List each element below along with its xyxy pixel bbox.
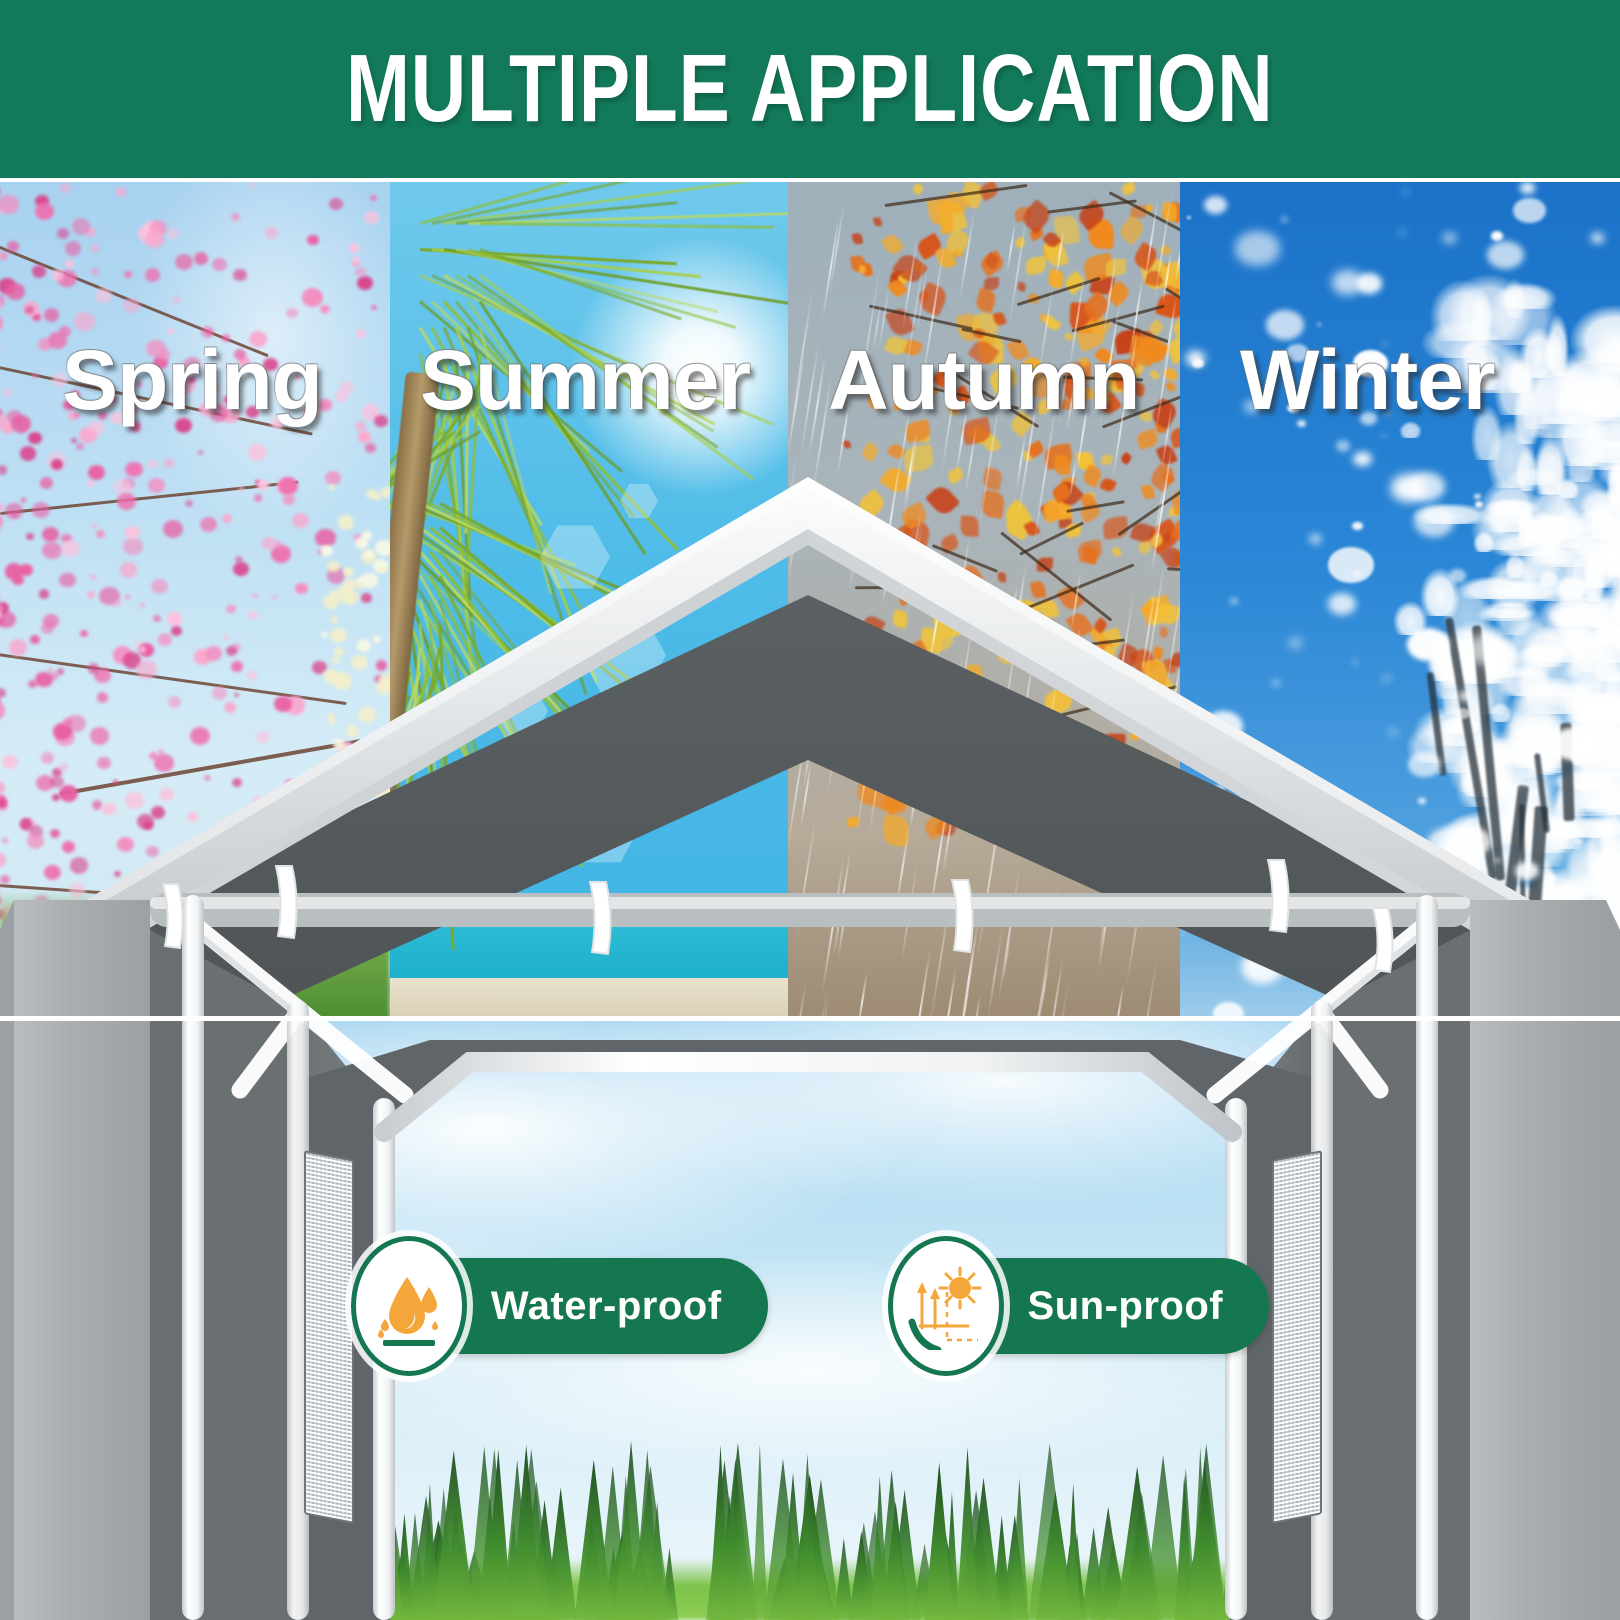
- rain-streak: [856, 971, 868, 1020]
- cherry-blossom: [146, 846, 158, 857]
- snowflake: [1310, 535, 1321, 543]
- snowflake: [1494, 858, 1501, 863]
- snowflake: [1592, 855, 1620, 885]
- cream-blossom: [375, 540, 390, 556]
- rain-streak: [829, 202, 845, 292]
- cherry-blossom: [287, 819, 303, 833]
- cherry-blossom: [65, 241, 81, 256]
- cream-blossom: [320, 545, 333, 557]
- cherry-blossom: [92, 800, 103, 810]
- cherry-blossom: [233, 562, 248, 576]
- cherry-blossom: [248, 444, 267, 461]
- cherry-blossom: [371, 305, 376, 310]
- cherry-blossom: [356, 792, 361, 797]
- cherry-blossom: [59, 573, 75, 588]
- snowflake: [1336, 440, 1350, 451]
- cream-blossom: [355, 835, 361, 841]
- cherry-blossom: [88, 663, 100, 673]
- cherry-blossom: [200, 517, 217, 533]
- rain-streak: [827, 717, 841, 794]
- rain-streak: [903, 428, 920, 523]
- cream-blossom: [332, 672, 352, 690]
- season-panel-winter: Winter: [1180, 182, 1620, 1020]
- snowflake: [1243, 951, 1283, 982]
- snowflake: [1382, 434, 1386, 437]
- rain-streak: [856, 714, 877, 834]
- cherry-blossom: [252, 593, 258, 599]
- snowflake: [1295, 846, 1301, 850]
- snowflake: [1200, 901, 1204, 904]
- snowflake: [1408, 472, 1445, 501]
- cherry-blossom: [164, 458, 174, 467]
- frosted-branch: [1456, 576, 1533, 599]
- cherry-blossom: [50, 672, 59, 680]
- page-title: MULTIPLE APPLICATION: [346, 34, 1274, 144]
- header-banner: MULTIPLE APPLICATION: [0, 0, 1620, 178]
- rain-streak: [1162, 251, 1172, 304]
- cherry-blossom: [285, 779, 294, 787]
- rain-streak: [1040, 750, 1060, 863]
- cherry-blossom: [244, 807, 259, 820]
- snowflake: [1539, 680, 1569, 704]
- cherry-blossom: [250, 183, 255, 188]
- cherry-blossom: [212, 686, 227, 700]
- snowflake: [1249, 859, 1257, 865]
- cherry-blossom: [257, 480, 269, 491]
- cream-blossom: [330, 628, 347, 643]
- snowflake: [1235, 231, 1279, 266]
- cherry-blossom: [370, 195, 377, 202]
- rain-streak: [821, 857, 845, 994]
- frosted-branch: [1564, 819, 1617, 838]
- cherry-blossom: [26, 533, 34, 540]
- cream-blossom: [379, 674, 390, 687]
- cream-blossom: [330, 783, 344, 796]
- cherry-blossom: [166, 228, 179, 240]
- cherry-blossom: [40, 477, 53, 489]
- cherry-blossom: [76, 443, 84, 450]
- cream-blossom: [346, 725, 359, 737]
- season-label-winter: Winter: [1180, 332, 1620, 429]
- cherry-blossom: [7, 241, 20, 252]
- rain-streak: [1144, 559, 1166, 685]
- season-label-summer: Summer: [390, 332, 788, 429]
- cherry-blossom: [30, 635, 40, 644]
- season-label-spring: Spring: [0, 332, 390, 429]
- rain-streak: [1111, 587, 1136, 732]
- cherry-blossom: [44, 865, 61, 880]
- cherry-blossom: [63, 718, 73, 727]
- cherry-blossom: [27, 833, 44, 849]
- cream-blossom: [343, 567, 353, 576]
- cream-blossom: [351, 655, 368, 670]
- cherry-blossom: [43, 614, 58, 628]
- cherry-blossom: [28, 432, 42, 444]
- cherry-blossom: [0, 688, 6, 698]
- cherry-blossom: [92, 523, 97, 528]
- snowflake: [1204, 711, 1244, 742]
- rain-streak: [788, 508, 800, 578]
- snowflake: [1272, 680, 1280, 686]
- cherry-blossom: [329, 198, 343, 211]
- rain-streak: [788, 726, 808, 852]
- badge-water-proof[interactable]: Water-proof: [351, 1236, 768, 1376]
- snowflake: [1181, 931, 1185, 934]
- cherry-blossom: [256, 731, 270, 744]
- rain-streak: [791, 981, 807, 1020]
- cream-blossom: [334, 647, 344, 656]
- rain-streak: [1142, 198, 1158, 289]
- snowflake: [1408, 752, 1441, 777]
- snowflake: [1459, 691, 1472, 701]
- snowflake: [1508, 296, 1514, 300]
- cherry-blossom: [97, 757, 111, 770]
- cherry-blossom: [350, 842, 360, 851]
- cherry-blossom: [0, 503, 3, 511]
- cherry-blossom: [28, 680, 37, 688]
- cream-blossom: [372, 493, 381, 501]
- snowflake: [1449, 569, 1466, 583]
- cream-blossom: [356, 803, 365, 811]
- cherry-blossom: [364, 211, 379, 224]
- cherry-blossom: [35, 203, 54, 220]
- cherry-blossom: [151, 806, 165, 819]
- lens-flare-hexagon: [620, 482, 658, 520]
- cherry-blossom: [70, 857, 88, 873]
- cherry-blossom: [190, 727, 210, 745]
- cherry-blossom: [96, 530, 105, 538]
- cherry-blossom: [2, 838, 8, 843]
- frosted-branch: [1457, 931, 1517, 954]
- cherry-blossom: [154, 754, 174, 772]
- cherry-blossom: [302, 288, 323, 307]
- snowflake: [1314, 893, 1349, 920]
- cherry-blossom: [125, 462, 142, 477]
- snowflake: [1281, 217, 1288, 223]
- rain-streak: [959, 921, 979, 1020]
- snowflake: [1242, 887, 1254, 896]
- snowflake: [1187, 216, 1191, 219]
- cherry-blossom: [19, 564, 33, 576]
- rain-streak: [954, 949, 975, 1020]
- cherry-blossom: [136, 660, 157, 679]
- summer-palm-art: [390, 182, 788, 1020]
- cherry-blossom: [195, 841, 215, 859]
- frosted-branch: [1579, 515, 1620, 540]
- rain-streak: [908, 947, 931, 1020]
- cherry-blossom: [57, 228, 69, 239]
- rain-streak: [1098, 879, 1112, 956]
- cherry-blossom: [125, 792, 143, 809]
- cherry-blossom: [278, 477, 298, 495]
- snowflake: [1491, 231, 1503, 241]
- cherry-blossom: [0, 314, 3, 333]
- cherry-blossom: [2, 755, 18, 770]
- cream-blossom: [380, 487, 390, 498]
- cherry-blossom: [42, 542, 62, 560]
- frosted-branch: [1473, 531, 1495, 552]
- rain-streak: [1070, 570, 1081, 630]
- cherry-blossom: [274, 696, 292, 712]
- rain-streak: [963, 734, 972, 780]
- cherry-blossom: [32, 502, 50, 518]
- cherry-blossom: [80, 630, 88, 637]
- cherry-blossom: [292, 513, 309, 528]
- cherry-blossom: [51, 269, 64, 281]
- rain-streak: [1072, 726, 1085, 796]
- cream-blossom: [373, 840, 389, 855]
- rain-streak: [958, 210, 974, 302]
- rain-streak: [909, 779, 919, 828]
- cherry-blossom: [72, 218, 90, 235]
- cherry-blossom: [50, 829, 60, 838]
- cherry-blossom: [307, 235, 319, 246]
- snowflake: [1497, 745, 1516, 760]
- cherry-blossom: [114, 871, 121, 877]
- cherry-blossom: [151, 579, 168, 595]
- snowflake: [1513, 198, 1546, 224]
- cherry-blossom: [306, 784, 314, 791]
- cherry-blossom: [44, 308, 60, 322]
- cherry-blossom: [74, 312, 94, 330]
- water-drop-icon: [373, 1263, 445, 1349]
- cherry-blossom: [163, 520, 183, 538]
- frosted-branch: [1567, 944, 1620, 1010]
- snowflake: [1468, 634, 1507, 665]
- snowflake: [1248, 909, 1260, 919]
- snowflake: [1328, 593, 1356, 615]
- snowflake: [1389, 729, 1397, 735]
- cherry-blossom: [116, 188, 126, 197]
- snowflake: [1515, 862, 1538, 880]
- cream-blossom: [367, 818, 384, 833]
- cherry-blossom: [272, 595, 277, 600]
- cherry-blossom: [222, 514, 232, 523]
- cream-blossom: [327, 561, 340, 572]
- cherry-blossom: [42, 527, 59, 542]
- cherry-blossom: [247, 671, 257, 680]
- rain-streak: [864, 662, 882, 764]
- cherry-blossom: [320, 305, 329, 313]
- rain-streak: [917, 270, 928, 330]
- cherry-blossom: [52, 794, 60, 801]
- cherry-blossom: [175, 254, 193, 270]
- cherry-blossom: [185, 500, 193, 507]
- cherry-blossom: [283, 494, 295, 505]
- snowflake: [1556, 577, 1587, 601]
- cherry-blossom: [361, 593, 372, 603]
- spring-grass: [0, 890, 390, 1020]
- rain-streak: [951, 532, 971, 647]
- cherry-blossom: [233, 269, 247, 281]
- cherry-blossom: [325, 471, 341, 485]
- cream-blossom: [362, 531, 372, 540]
- snowflake: [1528, 719, 1532, 722]
- cherry-blossom: [0, 465, 7, 474]
- cherry-blossom: [153, 615, 160, 622]
- cherry-blossom: [117, 837, 134, 852]
- cherry-blossom: [65, 260, 74, 268]
- rain-streak: [976, 811, 1001, 959]
- snowflake: [1548, 875, 1557, 882]
- cherry-blossom: [102, 803, 116, 816]
- cherry-blossom: [123, 298, 139, 313]
- badge-sun-proof[interactable]: Sun-proof: [888, 1236, 1270, 1376]
- cherry-blossom: [295, 583, 307, 594]
- cherry-blossom: [39, 589, 49, 598]
- cream-blossom: [375, 785, 390, 801]
- cherry-blossom: [0, 875, 10, 884]
- cherry-blossom: [32, 265, 46, 278]
- winter-frost-art: [1180, 182, 1620, 1020]
- cream-blossom: [357, 639, 371, 652]
- cherry-blossom: [117, 493, 136, 510]
- season-panel-spring: Spring: [0, 182, 390, 1020]
- cream-blossom: [332, 656, 340, 663]
- cherry-blossom: [365, 443, 376, 453]
- snowflake: [1442, 232, 1457, 244]
- rain-streak: [910, 725, 918, 765]
- snowflake: [1186, 860, 1192, 865]
- cream-blossom: [331, 616, 338, 623]
- cherry-blossom: [168, 696, 181, 708]
- snowflake: [1414, 506, 1454, 537]
- snowflake: [1289, 638, 1301, 648]
- snowflake: [1332, 270, 1363, 295]
- cherry-blossom: [0, 513, 3, 530]
- cherry-blossom: [59, 763, 68, 771]
- rain-streak: [879, 451, 902, 587]
- badge-label-water: Water-proof: [491, 1284, 722, 1329]
- cherry-blossom: [159, 788, 174, 802]
- cherry-blossom: [224, 702, 236, 713]
- rain-streak: [932, 703, 949, 796]
- rain-streak: [1125, 880, 1144, 988]
- cherry-blossom: [12, 575, 23, 585]
- cherry-blossom: [139, 646, 146, 652]
- cherry-blossom: [87, 591, 95, 598]
- cream-blossom: [357, 582, 365, 589]
- snowflake: [1599, 549, 1620, 568]
- snowflake: [1212, 785, 1225, 795]
- cherry-blossom: [292, 867, 310, 884]
- snowflake: [1383, 676, 1390, 681]
- cherry-blossom: [376, 660, 388, 670]
- cream-blossom: [358, 707, 376, 723]
- cherry-blossom: [198, 450, 203, 455]
- image-seam-divider: [0, 1016, 1620, 1021]
- rain-streak: [902, 235, 919, 331]
- cherry-blossom: [51, 459, 63, 470]
- snowflake: [1531, 781, 1536, 785]
- snowflake: [1328, 547, 1373, 582]
- cherry-blossom: [88, 465, 105, 480]
- cherry-blossom: [212, 258, 227, 271]
- rain-streak: [834, 671, 842, 712]
- snowflake: [1353, 452, 1372, 467]
- cream-blossom: [338, 515, 355, 530]
- cherry-blossom: [6, 283, 25, 300]
- autumn-rain-art: [788, 182, 1180, 1020]
- cherry-blossom: [262, 537, 276, 549]
- pine-forest: [0, 1420, 1620, 1620]
- snowflake: [1517, 948, 1551, 974]
- rain-streak: [1134, 957, 1158, 1020]
- cherry-blossom: [0, 195, 19, 213]
- frosted-branch: [1489, 702, 1511, 723]
- cream-blossom: [373, 636, 381, 643]
- snowflake: [1492, 523, 1506, 534]
- lens-flare-hexagon: [630, 722, 678, 770]
- snowflake: [1591, 233, 1604, 243]
- cherry-blossom: [357, 276, 373, 290]
- cherry-blossom: [205, 646, 222, 661]
- cherry-blossom: [267, 824, 275, 831]
- cherry-blossom: [236, 879, 243, 886]
- snowflake: [1418, 798, 1426, 805]
- rain-streak: [1015, 431, 1027, 492]
- cherry-blossom: [60, 183, 71, 193]
- rain-streak: [964, 426, 977, 494]
- season-strip: Spring Summer Autumn Winter: [0, 182, 1620, 1020]
- cherry-blossom: [187, 812, 199, 822]
- frosted-branch: [1523, 626, 1570, 666]
- cherry-blossom: [0, 852, 6, 868]
- snowflake: [1552, 728, 1593, 760]
- rain-streak: [796, 819, 817, 938]
- cherry-blossom: [0, 781, 5, 794]
- badge-icon-circle-sun: [888, 1236, 1004, 1376]
- cherry-blossom: [234, 693, 239, 698]
- rain-streak: [849, 513, 863, 591]
- cherry-blossom: [171, 626, 182, 636]
- cherry-blossom: [91, 268, 100, 276]
- snowflake: [1352, 522, 1363, 530]
- snowflake: [1428, 941, 1433, 945]
- cherry-blossom: [41, 752, 54, 764]
- cherry-blossom: [204, 775, 211, 781]
- cherry-blossom: [125, 526, 140, 539]
- cherry-blossom: [148, 478, 164, 493]
- rain-streak: [941, 966, 957, 1020]
- frosted-branch: [1597, 454, 1620, 487]
- cherry-blossom: [123, 538, 143, 556]
- cherry-blossom: [145, 268, 160, 282]
- snowflake: [1519, 550, 1558, 580]
- snowflake: [1317, 323, 1321, 326]
- cream-blossom: [365, 550, 374, 558]
- cherry-blossom: [265, 227, 278, 239]
- rain-streak: [896, 841, 908, 902]
- cherry-blossom: [239, 487, 244, 492]
- cherry-blossom: [223, 635, 229, 641]
- snowflake: [1353, 661, 1357, 664]
- snowflake: [1204, 196, 1227, 214]
- cherry-blossom: [267, 841, 283, 856]
- cream-blossom: [379, 566, 387, 573]
- cherry-blossom: [358, 431, 371, 443]
- snowflake: [1487, 241, 1524, 270]
- snowflake: [1438, 672, 1451, 682]
- sun-deflection-icon: [906, 1262, 986, 1350]
- cherry-blossom: [124, 271, 132, 278]
- rain-streak: [928, 793, 950, 921]
- cherry-blossom: [125, 595, 130, 600]
- cherry-blossom: [62, 841, 75, 853]
- cherry-blossom: [232, 778, 242, 787]
- lens-flare-hexagon: [580, 612, 666, 698]
- cherry-blossom: [260, 853, 268, 860]
